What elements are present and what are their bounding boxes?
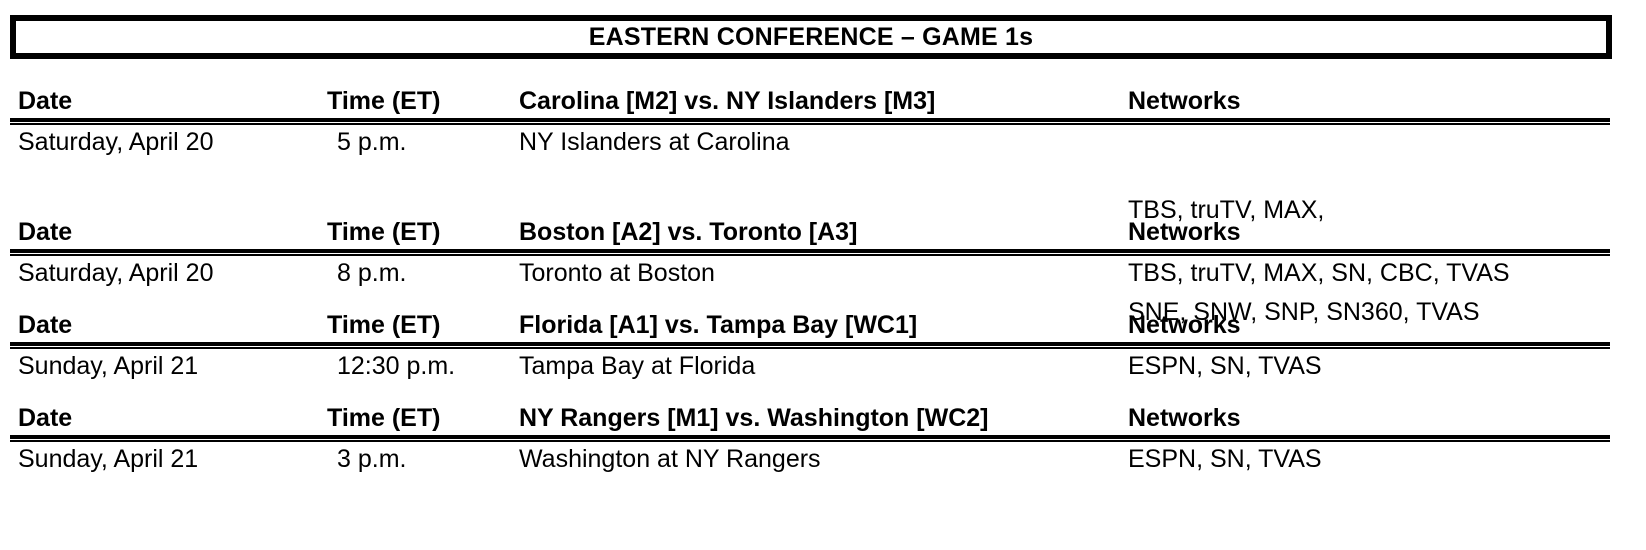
section-header-row: Date Time (ET) Boston [A2] vs. Toronto [… [0, 215, 1646, 249]
game-date: Sunday, April 21 [18, 349, 198, 383]
banner-title: EASTERN CONFERENCE – GAME 1s [589, 25, 1034, 50]
game-networks: ESPN, SN, TVAS [1128, 349, 1322, 383]
series-matchup-title: Carolina [M2] vs. NY Islanders [M3] [519, 84, 935, 118]
game-time: 5 p.m. [337, 125, 406, 159]
series-section: Date Time (ET) Carolina [M2] vs. NY Isla… [0, 84, 1646, 197]
game-date: Saturday, April 20 [18, 256, 213, 290]
series-matchup-title: NY Rangers [M1] vs. Washington [WC2] [519, 401, 988, 435]
schedule-sections: Date Time (ET) Carolina [M2] vs. NY Isla… [0, 84, 1646, 476]
game-teams: NY Islanders at Carolina [519, 125, 790, 159]
header-double-rule [10, 435, 1610, 442]
column-header-time: Time (ET) [327, 84, 440, 118]
game-date: Saturday, April 20 [18, 125, 213, 159]
series-section: Date Time (ET) NY Rangers [M1] vs. Washi… [0, 401, 1646, 476]
table-row: Sunday, April 21 12:30 p.m. Tampa Bay at… [0, 349, 1646, 383]
game-teams: Tampa Bay at Florida [519, 349, 755, 383]
table-row: Saturday, April 20 5 p.m. NY Islanders a… [0, 125, 1646, 197]
game-date: Sunday, April 21 [18, 442, 198, 476]
game-networks: ESPN, SN, TVAS [1128, 442, 1322, 476]
section-header-row: Date Time (ET) Florida [A1] vs. Tampa Ba… [0, 308, 1646, 342]
game-teams: Toronto at Boston [519, 256, 715, 290]
column-header-time: Time (ET) [327, 308, 440, 342]
game-time: 12:30 p.m. [337, 349, 455, 383]
table-row: Saturday, April 20 8 p.m. Toronto at Bos… [0, 256, 1646, 290]
column-header-time: Time (ET) [327, 215, 440, 249]
game-networks: TBS, truTV, MAX, SN, CBC, TVAS [1128, 256, 1510, 290]
column-header-time: Time (ET) [327, 401, 440, 435]
column-header-networks: Networks [1128, 215, 1241, 249]
column-header-date: Date [18, 84, 72, 118]
header-double-rule [10, 342, 1610, 349]
column-header-date: Date [18, 401, 72, 435]
table-row: Sunday, April 21 3 p.m. Washington at NY… [0, 442, 1646, 476]
column-header-networks: Networks [1128, 401, 1241, 435]
column-header-date: Date [18, 215, 72, 249]
series-matchup-title: Boston [A2] vs. Toronto [A3] [519, 215, 857, 249]
series-matchup-title: Florida [A1] vs. Tampa Bay [WC1] [519, 308, 917, 342]
game-teams: Washington at NY Rangers [519, 442, 821, 476]
series-section: Date Time (ET) Florida [A1] vs. Tampa Ba… [0, 308, 1646, 383]
section-header-row: Date Time (ET) NY Rangers [M1] vs. Washi… [0, 401, 1646, 435]
column-header-networks: Networks [1128, 308, 1241, 342]
game-time: 3 p.m. [337, 442, 406, 476]
header-double-rule [10, 249, 1610, 256]
column-header-date: Date [18, 308, 72, 342]
section-header-row: Date Time (ET) Carolina [M2] vs. NY Isla… [0, 84, 1646, 118]
schedule-page: EASTERN CONFERENCE – GAME 1s Date Time (… [0, 0, 1646, 550]
column-header-networks: Networks [1128, 84, 1241, 118]
header-double-rule [10, 118, 1610, 125]
game-time: 8 p.m. [337, 256, 406, 290]
conference-banner: EASTERN CONFERENCE – GAME 1s [10, 15, 1612, 59]
series-section: Date Time (ET) Boston [A2] vs. Toronto [… [0, 215, 1646, 290]
